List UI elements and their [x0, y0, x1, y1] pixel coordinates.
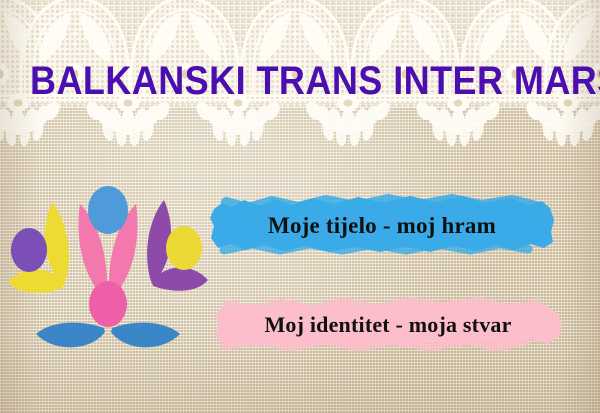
- slogan-banner-blue: Moje tijelo - moj hram: [208, 192, 556, 260]
- slogan-banner-pink-text: Moj identitet - moja stvar: [212, 294, 564, 356]
- left-figure: [8, 202, 69, 293]
- right-figure: [147, 200, 208, 291]
- page-title: BALKANSKI TRANS INTER MARŠ: [30, 58, 570, 104]
- slogan-banner-blue-text: Moje tijelo - moj hram: [208, 192, 556, 260]
- slogan-banner-pink: Moj identitet - moja stvar: [212, 294, 564, 356]
- organization-logo: [8, 178, 208, 363]
- poster-canvas: BALKANSKI TRANS INTER MARŠ: [0, 0, 600, 413]
- bottom-center-figure: [36, 281, 180, 347]
